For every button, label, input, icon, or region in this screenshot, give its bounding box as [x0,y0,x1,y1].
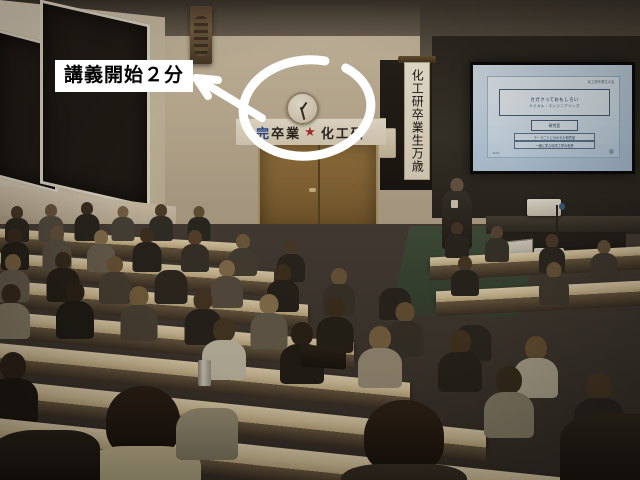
slide-footer: 2005 [492,151,499,155]
clock-center-pin [300,107,303,110]
wall-speaker-fixture [190,6,212,64]
head [55,252,71,269]
body [539,277,569,305]
screen-surface: 化工研卒業生の会 カガクっておもしろい ケミカル・エンジニアリング 研究室 テー… [473,65,632,171]
body [451,270,479,296]
projection-screen: 化工研卒業生の会 カガクっておもしろい ケミカル・エンジニアリング 研究室 テー… [470,62,635,174]
audience-person [252,294,286,346]
vertical-banner-text: 化工研卒業生万歳 [411,69,424,173]
head [458,256,472,271]
foreground-person [560,414,640,480]
head [387,272,403,289]
head [50,226,64,241]
head [5,254,21,271]
audience-person [440,330,480,388]
head [546,234,559,248]
head [188,230,202,245]
audience-person [318,298,352,350]
presenter-shirt [451,200,458,208]
foreground-person [344,400,464,480]
audience-person [156,254,186,302]
audience-person [486,366,532,432]
head [107,256,123,273]
drink-can [198,360,211,386]
head [496,366,522,394]
head [275,264,291,281]
head [331,268,347,285]
head [236,234,250,249]
body [112,217,135,241]
body [591,253,618,280]
foreground-head [364,400,444,474]
head [284,240,298,255]
audience-person [112,206,134,240]
audience-person [540,262,568,302]
foreground-torso [341,464,467,480]
presenter-head [451,178,464,192]
presentation-slide: 化工研卒業生の会 カガクっておもしろい ケミカル・エンジニアリング 研究室 テー… [487,76,619,159]
slide-title-line1: カガクっておもしろい [530,97,579,103]
head [0,352,26,380]
audience-person [122,286,156,338]
head [547,262,562,278]
head [396,302,415,322]
door-handle[interactable] [309,188,316,192]
head [449,330,471,354]
body [358,348,402,388]
audience-person [58,282,92,336]
body [56,301,94,339]
body [0,303,30,339]
body [121,305,158,341]
body [484,392,534,438]
slide-sub-box: 研究室 [531,120,577,131]
audience-person [592,240,616,278]
blackboard-main [40,0,150,209]
head [369,326,391,350]
body [485,238,509,262]
body [445,234,469,258]
slide-title-box: カガクっておもしろい ケミカル・エンジニアリング [499,89,611,115]
foreground-arm [176,408,238,460]
banner-prefix: 完 [256,123,271,142]
slide-logo [609,149,614,154]
banner-main: 卒業 [271,123,301,142]
head [130,286,149,306]
slide-title-line2: ケミカル・エンジニアリング [529,104,580,109]
head [260,294,279,314]
head [8,228,22,243]
head [219,260,235,277]
vertical-hanging-banner: 化工研卒業生万歳 [404,62,430,180]
head [525,336,547,360]
briefcase [300,344,346,369]
head [194,290,213,310]
head [326,298,345,318]
body [438,352,482,392]
head [66,282,85,302]
head [598,240,611,254]
audience-person [0,352,36,418]
head [94,230,108,245]
slide-bullet-2: 一緒に学ぶ化学工学の世界 [514,141,594,149]
head [464,306,483,326]
head [291,322,313,346]
body [0,378,38,424]
foreground-person [0,430,100,480]
audience-person [0,284,28,336]
audience-person [452,256,478,294]
head [163,254,179,271]
audience-person [360,326,400,384]
slide-corner-note: 化工研卒業生の会 [588,79,615,84]
analog-wall-clock [286,92,319,125]
head [140,228,154,243]
body [155,270,188,304]
audience-person [446,222,468,256]
head [213,318,235,342]
head [586,372,612,400]
audience-person [486,226,508,260]
banner-suffix: 化工研 [321,123,366,142]
head [2,284,21,304]
banner-star: ★ [304,125,318,140]
lecture-hall-photo: 完 卒業 ★ 化工研 化工研卒業生万歳 化工研卒業生の会 カガクっておもしろい … [0,0,640,480]
